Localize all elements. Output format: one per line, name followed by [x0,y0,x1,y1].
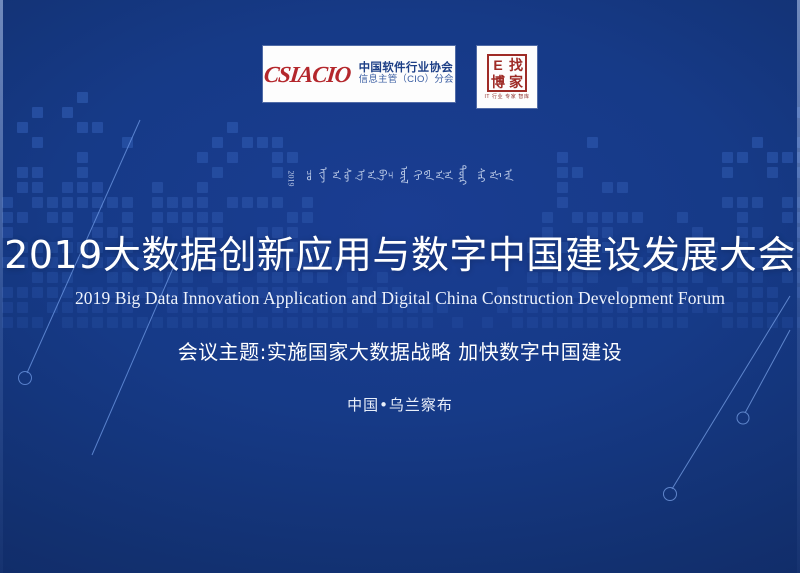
mosaic-square [287,317,298,328]
mosaic-square [62,317,73,328]
csiacio-logo: CSIACIO 中国软件行业协会 信息主管（CIO）分会 [263,46,455,102]
mosaic-square [167,212,178,223]
mosaic-square [767,152,778,163]
csiacio-wordmark: CSIACIO [263,63,352,86]
mosaic-square [272,152,283,163]
mosaic-square [617,212,628,223]
csiacio-line2: 信息主管（CIO）分会 [359,75,454,86]
mosaic-square [782,152,793,163]
mosaic-square [212,317,223,328]
mosaic-square [32,137,43,148]
mosaic-square [257,137,268,148]
mongolian-glyph: ᠲᠦᠷ [457,165,475,185]
mosaic-square [227,152,238,163]
mosaic-square [32,197,43,208]
mosaic-square [632,317,643,328]
mosaic-square [632,212,643,223]
mosaic-square [92,122,103,133]
mosaic-square [227,317,238,328]
mosaic-square [92,212,103,223]
mosaic-square [242,137,253,148]
mosaic-square [422,317,433,328]
e-expert-tagline: IT 行业 专家 智库 [484,93,529,100]
mosaic-square [182,317,193,328]
mosaic-square [557,152,568,163]
mosaic-square [92,317,103,328]
mosaic-square [377,317,388,328]
mosaic-square [92,197,103,208]
mosaic-square [152,197,163,208]
mosaic-square [152,212,163,223]
mosaic-square [242,197,253,208]
mosaic-square [2,212,13,223]
mosaic-square [782,212,793,223]
mosaic-square [302,317,313,328]
mosaic-square [47,197,58,208]
mosaic-square [32,107,43,118]
conference-poster: CSIACIO 中国软件行业协会 信息主管（CIO）分会 E 找 博 家 IT … [0,0,800,573]
mosaic-square [2,197,13,208]
mosaic-square [302,212,313,223]
mosaic-square [557,197,568,208]
logo-bar: CSIACIO 中国软件行业协会 信息主管（CIO）分会 E 找 博 家 IT … [0,46,800,108]
mosaic-square [572,317,583,328]
mosaic-square [182,212,193,223]
e-expert-logo: E 找 博 家 IT 行业 专家 智库 [477,46,537,108]
mosaic-square [257,317,268,328]
mosaic-square [572,212,583,223]
mosaic-square [197,152,208,163]
mongolian-script-line: 2019ᠴᠤᠢᠵᠠᠰᠦᠡᠭᠠᠪᠡᠴᠦᠯᠬᠢᠳᠡᠠᠨᠡᠲᠦᠷᠰᠠᠷᠠᠶᠢᠨ [0,166,800,184]
mosaic-square [737,317,748,328]
mosaic-square [2,317,13,328]
mosaic-square [242,317,253,328]
mosaic-square [137,317,148,328]
mosaic-square [272,197,283,208]
mosaic-square [737,197,748,208]
e-expert-seal: E 找 博 家 [487,54,527,92]
mosaic-square [17,212,28,223]
mosaic-square [47,212,58,223]
mosaic-square [17,317,28,328]
mosaic-square [167,317,178,328]
mosaic-square [722,152,733,163]
mongolian-year: 2019 [286,171,295,187]
mongolian-glyph-run: ᠴᠤᠢᠵᠠᠰᠦᠡᠭᠠᠪᠡᠴᠦᠯᠬᠢᠳᠡᠠᠨᠡᠲᠦᠷᠰᠠᠷᠠᠶᠢᠨ [307,173,517,184]
mosaic-square [587,212,598,223]
conference-location: 中国•乌兰察布 [0,394,800,415]
page-title-chinese: 2019大数据创新应用与数字中国建设发展大会 [0,236,800,276]
mosaic-square [737,212,748,223]
mosaic-square [107,197,118,208]
mosaic-square [392,317,403,328]
mosaic-square [407,317,418,328]
mosaic-square [347,317,358,328]
mosaic-square [752,137,763,148]
e-expert-char-2: 找 [507,56,525,73]
mosaic-square [587,137,598,148]
mosaic-square [452,317,463,328]
mosaic-square [542,212,553,223]
mosaic-square [752,317,763,328]
page-title-english: 2019 Big Data Innovation Application and… [0,288,800,309]
mosaic-square [152,317,163,328]
mosaic-square [602,317,613,328]
mosaic-square [542,317,553,328]
mosaic-square [677,212,688,223]
mosaic-square [182,197,193,208]
mosaic-square [257,197,268,208]
mosaic-square [122,212,133,223]
mosaic-square [62,197,73,208]
mosaic-square [212,137,223,148]
mosaic-square [302,197,313,208]
mosaic-square [227,122,238,133]
mosaic-square [647,317,658,328]
mosaic-square [722,317,733,328]
mosaic-square [332,317,343,328]
mosaic-square [62,212,73,223]
mosaic-square [197,212,208,223]
mosaic-square [737,152,748,163]
mosaic-square [677,317,688,328]
e-expert-char-3: 博 [489,73,507,90]
mosaic-square [17,122,28,133]
mosaic-square [197,197,208,208]
mosaic-square [77,197,88,208]
mosaic-square [602,212,613,223]
mosaic-square [527,317,538,328]
mosaic-square [752,197,763,208]
mosaic-square [782,197,793,208]
mosaic-square [122,197,133,208]
mosaic-square [77,317,88,328]
mosaic-square [482,317,493,328]
mosaic-square [77,152,88,163]
mosaic-square [287,212,298,223]
mosaic-square [272,317,283,328]
mosaic-square [122,137,133,148]
e-expert-char-4: 家 [507,73,525,90]
mosaic-square [557,317,568,328]
mosaic-square [212,212,223,223]
mosaic-square [62,107,73,118]
mosaic-square [512,317,523,328]
e-expert-char-1: E [489,56,507,73]
mosaic-square [227,197,238,208]
mosaic-square [77,122,88,133]
mosaic-square [767,317,778,328]
csiacio-text-block: 中国软件行业协会 信息主管（CIO）分会 [359,62,454,86]
mosaic-square [317,317,328,328]
mosaic-square [617,317,628,328]
mongolian-glyph: ᠢᠨ [502,169,520,181]
mosaic-square [587,317,598,328]
mosaic-square [167,197,178,208]
mosaic-square [662,317,673,328]
mosaic-square [272,137,283,148]
mosaic-square [122,317,133,328]
conference-theme: 会议主题:实施国家大数据战略 加快数字中国建设 [0,336,800,365]
mosaic-square [287,152,298,163]
mosaic-square [197,317,208,328]
mosaic-square [722,197,733,208]
mosaic-square [32,317,43,328]
mosaic-square [107,317,118,328]
mosaic-square [782,317,793,328]
